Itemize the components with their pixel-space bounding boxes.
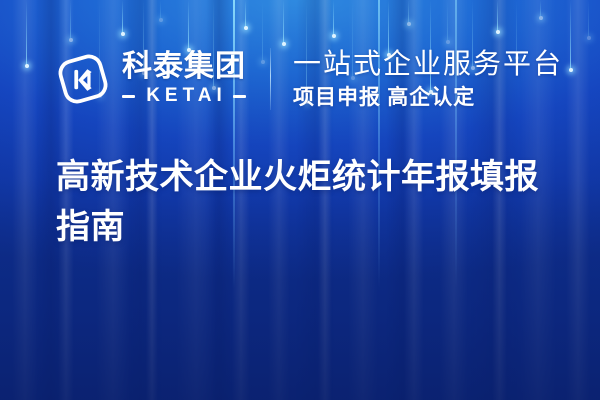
light-streak-icon: [333, 0, 334, 36]
brand-name-cn: 科泰集团: [122, 51, 246, 83]
page-title: 高新技术企业火炬统计年报填报 指南: [56, 152, 556, 252]
tagline-main: 一站式企业服务平台: [293, 48, 563, 79]
banner-header: 科泰集团 KETAI 一站式企业服务平台 项目申报 高企认定: [0, 40, 600, 118]
light-streak-icon: [447, 0, 448, 42]
page-title-line-2: 指南: [56, 202, 556, 252]
light-streak-icon: [70, 0, 71, 40]
brand-lockup: 科泰集团 KETAI: [56, 51, 246, 108]
light-streak-icon: [160, 0, 161, 20]
page-title-line-1: 高新技术企业火炬统计年报填报: [56, 152, 556, 202]
brand-text: 科泰集团 KETAI: [122, 51, 246, 108]
light-streak-icon: [245, 0, 246, 28]
brand-name-en: KETAI: [135, 85, 233, 107]
brand-dash-left: [122, 95, 135, 98]
tagline-block: 一站式企业服务平台 项目申报 高企认定: [293, 48, 563, 111]
light-streak-icon: [497, 0, 498, 32]
tagline-sub: 项目申报 高企认定: [293, 85, 563, 110]
ketai-diamond-monogram-icon: [56, 52, 110, 106]
light-streak-icon: [540, 0, 541, 18]
light-streak-icon: [283, 0, 284, 44]
brand-name-en-row: KETAI: [122, 85, 246, 107]
header-divider: [270, 48, 271, 110]
banner-image: 科泰集团 KETAI 一站式企业服务平台 项目申报 高企认定 高新技术企业火炬统…: [0, 0, 600, 400]
brand-dash-right: [233, 95, 246, 98]
light-streak-icon: [122, 0, 123, 34]
light-streak-icon: [588, 0, 589, 38]
light-streak-icon: [408, 0, 409, 24]
